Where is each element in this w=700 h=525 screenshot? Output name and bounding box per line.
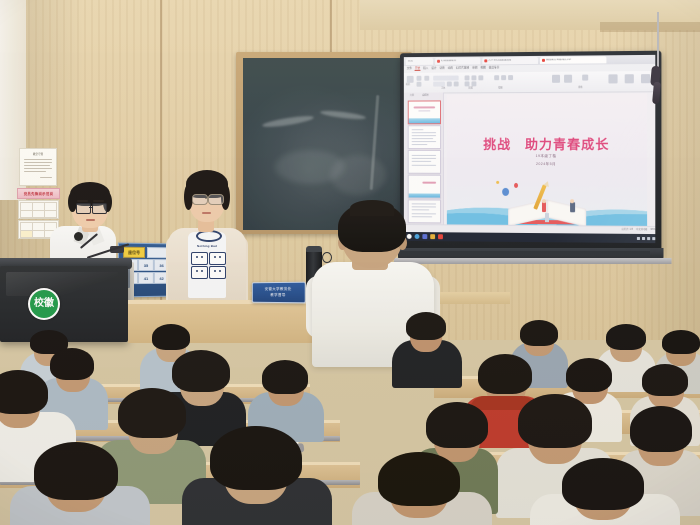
replace-icon[interactable]: [625, 74, 634, 83]
start-icon[interactable]: [407, 234, 412, 239]
wall-banner: 党员先锋岗示范岗: [17, 188, 60, 199]
desk-nameplate: 安徽大学教务处 教学督导: [252, 282, 306, 304]
nameplate-line-2: 教学督导: [270, 293, 285, 298]
ribbon-label-5: 段落: [469, 87, 473, 89]
tee-graphic-text: Nothing Bad: [188, 244, 226, 248]
system-tray[interactable]: [637, 237, 655, 240]
slide-thumbnail-1[interactable]: [408, 100, 441, 124]
italic-icon[interactable]: [454, 81, 459, 86]
audience-hair: [118, 388, 186, 438]
wps-tab-1[interactable]: 心理健康教育: [435, 57, 480, 64]
ribbon-tab-9[interactable]: 会员专享: [489, 67, 500, 70]
font-name-box[interactable]: [433, 76, 459, 81]
university-emblem: 校徽: [28, 288, 60, 320]
wall-duty-chart-top: [18, 200, 59, 219]
ribbon-tab-5[interactable]: 动画: [448, 68, 453, 71]
slide-thumbnail-5[interactable]: [408, 199, 441, 223]
volume-icon[interactable]: [642, 237, 645, 240]
ribbon-toolbar[interactable]: 粘贴 字体 段落 绘图 查找: [404, 71, 655, 94]
child-figure-blue: [570, 202, 575, 212]
presentation-screen[interactable]: 首页 心理健康教育 大学生心理健康讲座 挑战助力青春成长.ppt 文件 开始 插…: [404, 55, 655, 243]
standing-student-hair-top: [350, 200, 394, 216]
audience-hair: [378, 452, 460, 506]
audience-hair: [606, 324, 646, 350]
display-console-strip: [400, 251, 650, 255]
audience-hair: [566, 358, 612, 392]
child-figure-red: [542, 202, 546, 212]
ribbon-label-0: 粘贴: [406, 84, 410, 86]
slide-title: 挑战 助力青春成长: [447, 134, 647, 153]
ribbon-tab-2[interactable]: 插入: [423, 68, 428, 71]
audience-hair: [518, 394, 592, 448]
audience-hair: [34, 442, 118, 500]
audience-hair: [662, 330, 700, 354]
slide-counter: 幻灯片 1/8: [622, 229, 633, 232]
ribbon-label-6: 绘图: [498, 87, 502, 89]
host-glasses-left: [76, 203, 91, 214]
slide-thumbnail-3[interactable]: [408, 150, 441, 174]
chalk-smudge: [330, 155, 386, 195]
slide-thumbnail-4[interactable]: [408, 175, 441, 199]
cut-icon[interactable]: [417, 76, 422, 81]
thermos-cap: [306, 246, 322, 252]
wall-trim: [600, 22, 700, 32]
wps-tab-3-active[interactable]: 挑战助力青春成长.ppt: [540, 56, 606, 64]
banner-text: 党员先锋岗示范岗: [24, 191, 54, 196]
slide-subtitle-date: 2024年5月: [447, 162, 647, 167]
wall-notice-poster: 教室守则: [19, 148, 57, 186]
file-type-icon: [484, 59, 487, 62]
align-right-icon[interactable]: [478, 75, 483, 80]
ribbon-tab-3[interactable]: 设计: [431, 68, 436, 71]
balloon-icon: [514, 183, 518, 188]
bullet-list-icon[interactable]: [465, 81, 470, 86]
paste-icon[interactable]: [407, 76, 414, 83]
child-head: [542, 199, 546, 203]
emblem-disc: 校徽: [29, 289, 59, 319]
audience-hair: [642, 364, 688, 396]
audience-hair: [562, 458, 644, 510]
audience-hair: [478, 354, 532, 394]
seat-number-1: 35: [138, 259, 154, 271]
align-center-icon[interactable]: [471, 75, 476, 80]
ribbon-tab-4[interactable]: 切换: [440, 68, 445, 71]
number-board-header: 座位号: [123, 247, 145, 258]
host-mouth: [86, 219, 95, 221]
wps-tab-0[interactable]: 首页: [406, 58, 433, 65]
audience-hair: [520, 320, 558, 346]
fill-icon[interactable]: [508, 75, 513, 80]
copy-icon[interactable]: [417, 82, 422, 87]
ribbon-label-4: 字体: [441, 88, 445, 90]
seat-number-3: 41: [138, 272, 154, 284]
bold-icon[interactable]: [447, 82, 452, 87]
slide-canvas[interactable]: 挑战 助力青春成长 19本级丁楷 2024年5月: [447, 93, 647, 227]
file-type-icon: [437, 60, 440, 63]
audience-hair: [172, 350, 230, 392]
find-icon[interactable]: [582, 75, 588, 81]
audience-hair: [210, 426, 302, 490]
ribbon-label-8: 查找: [578, 87, 582, 89]
host-glasses-right: [92, 203, 107, 214]
ribbon-tab-7[interactable]: 审阅: [472, 68, 477, 71]
number-list-icon[interactable]: [471, 81, 476, 86]
notice-title: 教室守则: [20, 152, 56, 156]
zoom-level[interactable]: 68%: [650, 229, 655, 231]
language-indicator[interactable]: 中文(中国): [636, 229, 647, 232]
browser-icon[interactable]: [422, 234, 427, 239]
editing-icon[interactable]: [641, 74, 650, 83]
audience-hair: [630, 406, 692, 452]
tee-graphic-panel: [191, 252, 208, 265]
podium-highlight: [6, 272, 118, 296]
ime-icon[interactable]: [647, 237, 650, 240]
wps-tab-2[interactable]: 大学生心理健康讲座: [482, 57, 538, 64]
audience-hair: [426, 402, 488, 448]
lecture-hall-photo: 教室守则 党员先锋岗示范岗 首页: [0, 0, 700, 525]
clock-icon[interactable]: [652, 237, 655, 240]
text-box-icon[interactable]: [564, 75, 572, 83]
wps-icon[interactable]: [438, 234, 443, 239]
emblem-glyph: 校徽: [34, 299, 54, 309]
align-left-icon[interactable]: [465, 75, 470, 80]
audience-hair: [50, 348, 94, 380]
stylus-cord: [657, 12, 659, 70]
pane-tab-outline[interactable]: 大纲: [410, 95, 414, 97]
slide-thumbnail-pane[interactable]: 大纲 幻灯片: [404, 92, 444, 231]
audience-hair: [406, 312, 446, 340]
ribbon-tab-0[interactable]: 文件: [407, 68, 412, 71]
insert-shape-icon[interactable]: [552, 75, 560, 83]
folder-icon[interactable]: [430, 234, 435, 239]
select-icon[interactable]: [608, 74, 617, 83]
child-head: [570, 199, 574, 203]
tee-graphic-panel: [209, 252, 226, 265]
pane-tab-slides[interactable]: 幻灯片: [422, 95, 428, 97]
host-eyebrow-right: [93, 200, 104, 202]
host-eyebrow-left: [77, 200, 88, 202]
balloon-icon: [496, 181, 499, 184]
ribbon-tab-8[interactable]: 视图: [480, 67, 485, 70]
speaker-mouth: [202, 212, 211, 214]
ribbon-tab-1[interactable]: 开始: [415, 68, 420, 72]
speaker-glasses-bridge: [205, 198, 209, 199]
search-icon[interactable]: [415, 234, 420, 239]
network-icon[interactable]: [637, 237, 640, 240]
thermos-strap-loop: [322, 252, 332, 263]
tee-graphic-panel: [191, 266, 208, 279]
host-glasses-bridge: [89, 207, 92, 208]
balloon-icon: [502, 188, 509, 196]
file-type-icon: [542, 59, 545, 62]
display-shelf: [394, 258, 671, 264]
shape-icon[interactable]: [494, 75, 499, 80]
audience-hair: [152, 324, 190, 350]
microphone-head-icon: [74, 232, 83, 241]
ribbon-tab-6[interactable]: 幻灯片放映: [456, 68, 469, 71]
audience-hair: [262, 360, 308, 394]
slide-thumbnail-2[interactable]: [408, 125, 441, 149]
tee-graphic-panel: [209, 266, 226, 279]
wall-seam: [330, 0, 332, 60]
speaker-glasses-right: [208, 194, 224, 205]
speaker-glasses-left: [192, 194, 208, 205]
font-size-box[interactable]: [433, 82, 445, 87]
arrange-icon[interactable]: [501, 75, 506, 80]
slide-subtitle-presenter: 19本级丁楷: [447, 154, 647, 159]
format-painter-icon[interactable]: [424, 76, 429, 81]
